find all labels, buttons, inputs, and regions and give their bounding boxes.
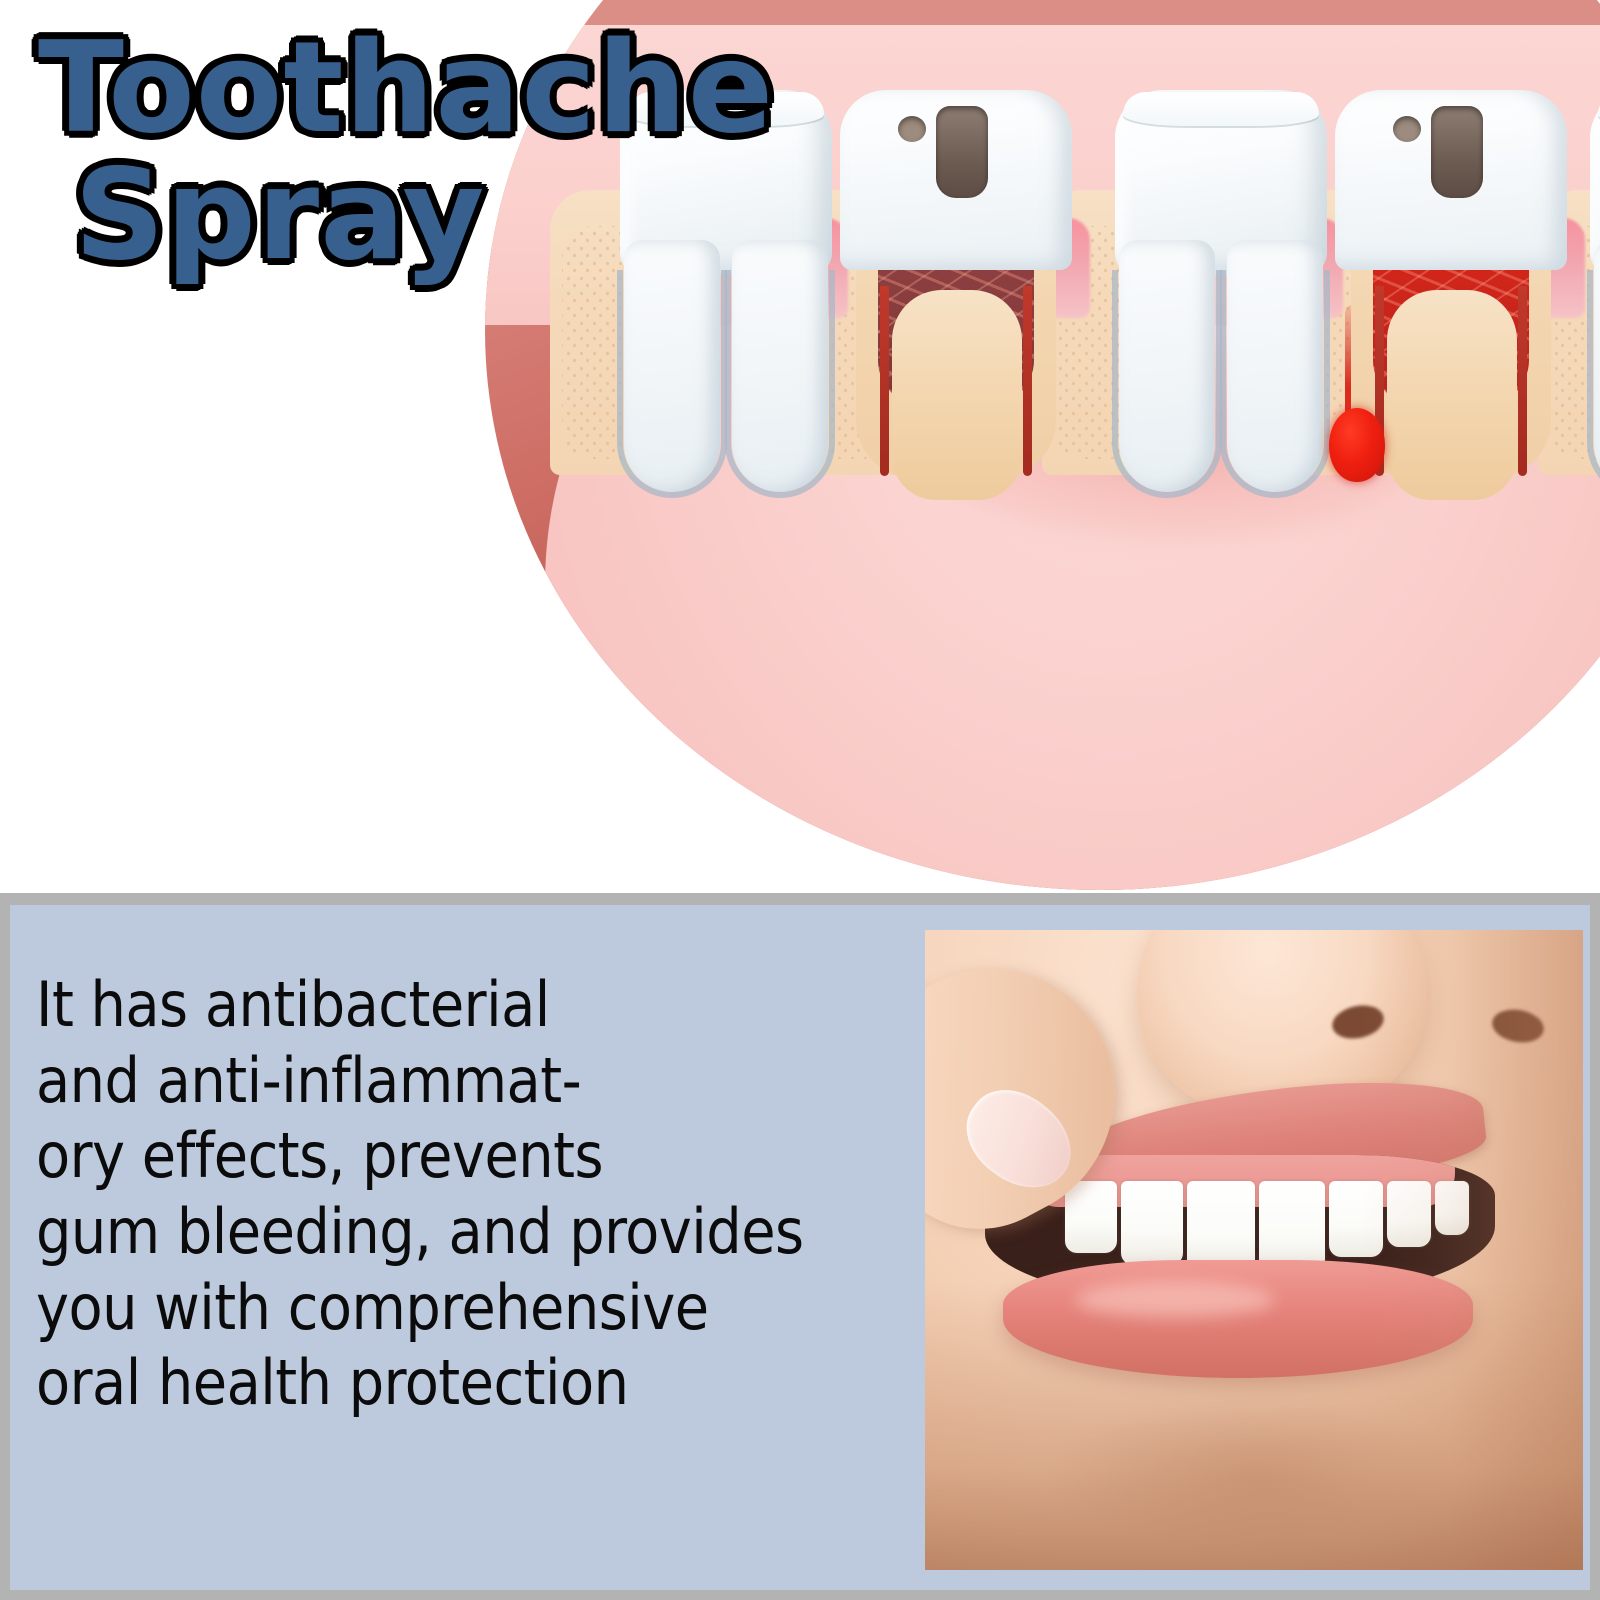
hero-section: Toothache Spray xyxy=(0,0,1600,893)
smiling-woman-teeth-photo xyxy=(925,930,1583,1570)
tooth-root-left xyxy=(1119,240,1215,492)
title-line-1: Toothache xyxy=(38,26,818,149)
cavity-pit-icon xyxy=(898,116,926,142)
periapical-abscess xyxy=(1329,408,1385,482)
tooth-root-right xyxy=(1227,240,1323,492)
healthy-tooth-edge xyxy=(1590,90,1600,490)
fingernail xyxy=(949,1072,1089,1207)
info-panel: It has antibacterial and anti-inflammat-… xyxy=(0,893,1600,1600)
root-canal-left xyxy=(880,286,889,476)
abscessed-tooth-4 xyxy=(1335,90,1567,490)
face-shadow-bottom xyxy=(925,1282,1583,1570)
tooth-root-left xyxy=(1594,240,1600,492)
cavity-lesion xyxy=(936,106,988,198)
root-dentin-core xyxy=(1387,290,1517,500)
product-title: Toothache Spray xyxy=(38,26,818,281)
root-canal-right xyxy=(1518,286,1527,476)
benefit-description: It has antibacterial and anti-inflammat-… xyxy=(36,967,916,1421)
tooth-cusp-ridge xyxy=(1123,92,1319,126)
front-tooth xyxy=(1065,1181,1117,1253)
decayed-tooth-2 xyxy=(840,90,1072,490)
root-dentin-core xyxy=(892,290,1022,500)
front-tooth xyxy=(1121,1181,1183,1265)
title-line-2: Spray xyxy=(74,153,818,276)
front-tooth xyxy=(1259,1181,1325,1271)
root-canal-right xyxy=(1023,286,1032,476)
healthy-tooth-3 xyxy=(1115,90,1327,490)
cavity-pit-icon xyxy=(1393,116,1421,142)
info-panel-inner: It has antibacterial and anti-inflammat-… xyxy=(10,905,1590,1590)
cavity-lesion xyxy=(1431,106,1483,198)
